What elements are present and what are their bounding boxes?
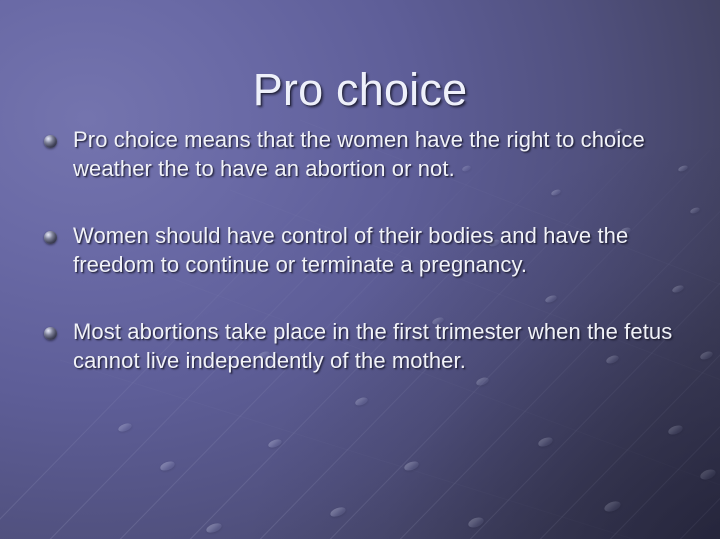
slide-body-content: Pro choice means that the women have the… bbox=[40, 126, 690, 375]
background-bead bbox=[117, 422, 133, 433]
sphere-bullet-icon bbox=[44, 327, 57, 340]
bullet-text: Most abortions take place in the first t… bbox=[73, 318, 690, 375]
background-bead bbox=[403, 460, 420, 473]
background-bead bbox=[475, 376, 490, 387]
background-bead bbox=[159, 460, 176, 473]
background-bead bbox=[699, 350, 714, 361]
background-bead bbox=[667, 424, 684, 437]
bullet-text: Women should have control of their bodie… bbox=[73, 222, 690, 279]
bullet-item: Pro choice means that the women have the… bbox=[40, 126, 690, 183]
bullet-item: Women should have control of their bodie… bbox=[40, 222, 690, 279]
bullet-item: Most abortions take place in the first t… bbox=[40, 318, 690, 375]
background-bead bbox=[699, 468, 717, 482]
background-bead bbox=[205, 522, 223, 535]
sphere-bullet-icon bbox=[44, 135, 57, 148]
background-bead bbox=[354, 396, 369, 407]
background-bead bbox=[689, 206, 700, 214]
bullet-text: Pro choice means that the women have the… bbox=[73, 126, 690, 183]
background-bead bbox=[603, 499, 622, 513]
background-bead bbox=[267, 438, 283, 449]
presentation-slide: Pro choice Pro choice means that the wom… bbox=[0, 0, 720, 539]
background-bead bbox=[467, 516, 485, 530]
background-bead bbox=[329, 506, 347, 519]
background-bead bbox=[537, 436, 554, 449]
sphere-bullet-icon bbox=[44, 231, 57, 244]
slide-title: Pro choice bbox=[0, 66, 720, 115]
